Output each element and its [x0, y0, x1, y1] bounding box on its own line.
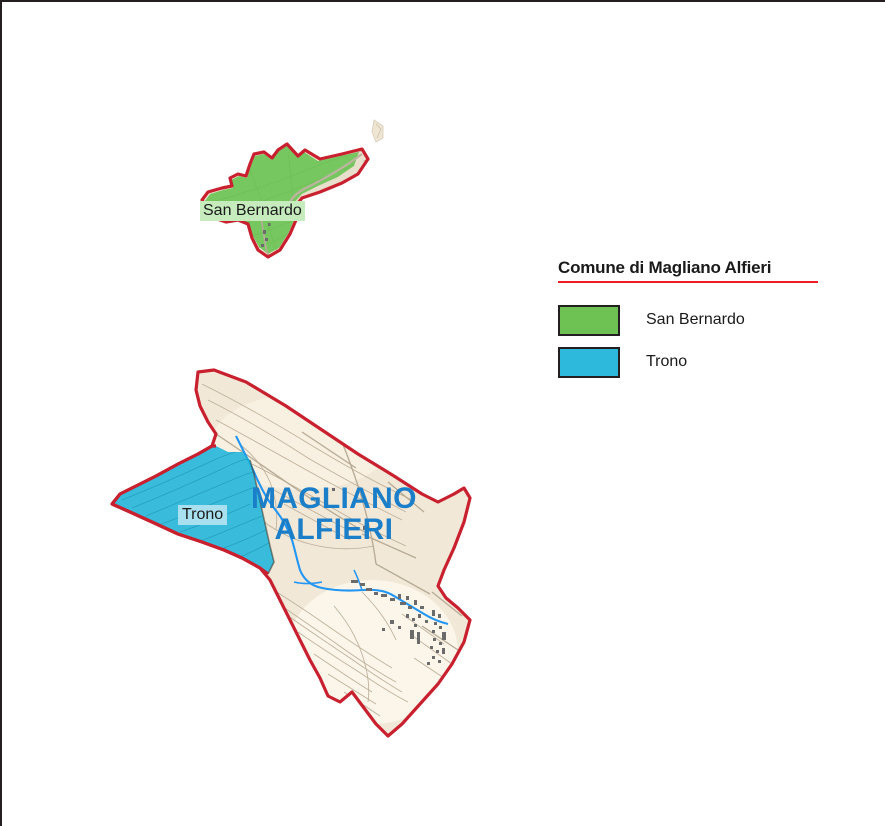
legend: Comune di Magliano Alfieri San Bernardo … [558, 258, 858, 383]
legend-label-trono: Trono [646, 353, 687, 371]
san-bernardo-green-fill [205, 146, 359, 254]
legend-swatch-san-bernardo [558, 305, 620, 336]
legend-swatch-trono [558, 347, 620, 378]
map-area-magliano-alfieri[interactable] [112, 370, 470, 736]
map-area-san-bernardo[interactable] [202, 144, 368, 257]
legend-label-san-bernardo: San Bernardo [646, 311, 745, 329]
map-area-trono[interactable] [112, 446, 274, 574]
legend-title-rule [558, 281, 818, 283]
legend-item-san-bernardo[interactable]: San Bernardo [558, 299, 858, 341]
map-canvas [2, 2, 885, 826]
map-detached-sliver [372, 120, 383, 142]
trono-fill [112, 446, 274, 574]
map-page: MAGLIANO ALFIERI Trono San Bernardo Comu… [0, 0, 885, 826]
legend-item-trono[interactable]: Trono [558, 341, 858, 383]
legend-title: Comune di Magliano Alfieri [558, 258, 858, 281]
detached-sliver-shape [372, 120, 383, 142]
